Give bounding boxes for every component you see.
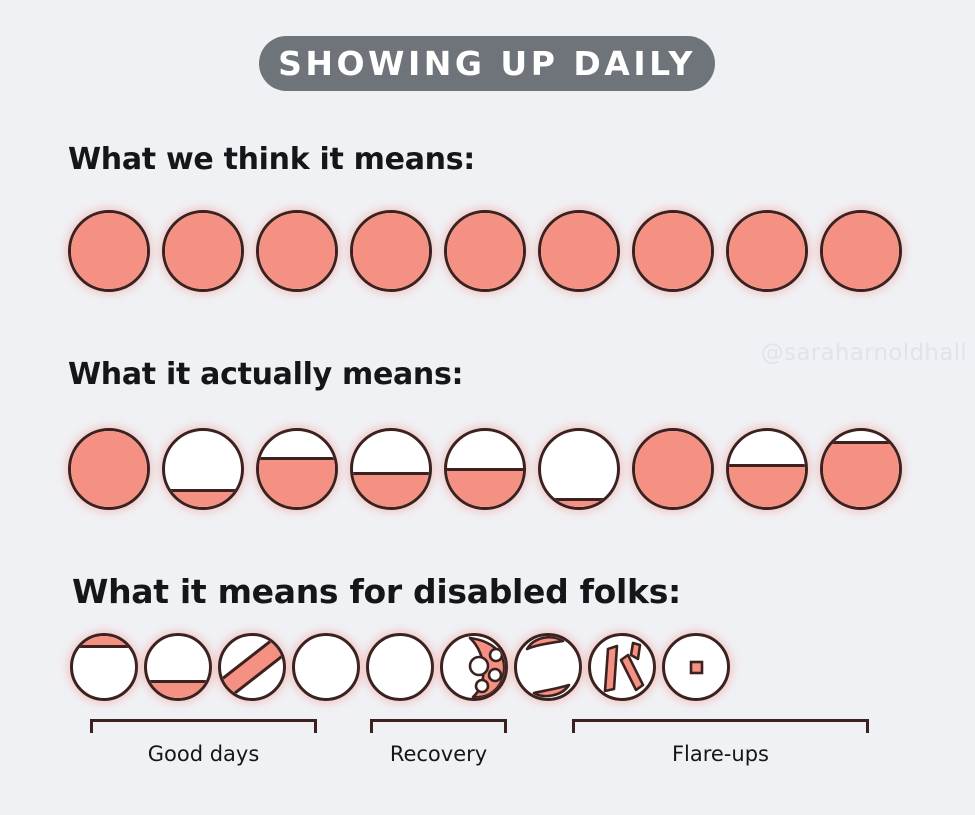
bracket-good-days — [90, 719, 317, 733]
circle-fill — [144, 680, 212, 700]
section-heading-disabled-folks: What it means for disabled folks: — [72, 572, 681, 611]
circle-full-2 — [162, 210, 244, 292]
circle-fill — [538, 211, 620, 291]
title-pill: SHOWING UP DAILY — [259, 36, 715, 91]
circle-level-3 — [256, 428, 338, 510]
circle-full-8 — [726, 210, 808, 292]
circle-level-9 — [820, 428, 902, 510]
circle-full-6 — [538, 210, 620, 292]
circle-fill — [820, 211, 902, 291]
circle-fill — [726, 211, 808, 291]
circle-full-4 — [350, 210, 432, 292]
circle-level-8 — [726, 428, 808, 510]
bracket-label-recovery: Recovery — [370, 742, 507, 766]
circle-tiny-square — [662, 633, 730, 701]
circle-fill — [444, 211, 526, 291]
circle-fill — [256, 211, 338, 291]
circle-fill — [444, 468, 526, 509]
circle-fill — [68, 211, 150, 291]
circle-full-1 — [68, 210, 150, 292]
broken-bars-shape — [588, 633, 656, 701]
circle-fill — [162, 211, 244, 291]
watermark-handle: @saraharnoldhall — [761, 340, 967, 366]
circle-empty-1 — [292, 633, 360, 701]
swiss-cheese-shape — [440, 633, 508, 701]
circle-swiss-cheese — [440, 633, 508, 701]
circle-fill — [820, 441, 902, 509]
circle-diagonal-stripe — [218, 633, 286, 701]
circle-level-6 — [538, 428, 620, 510]
circle-fill — [632, 211, 714, 291]
bracket-label-flare-ups: Flare-ups — [572, 742, 869, 766]
circle-fill — [162, 489, 244, 509]
diagonal-stripe — [218, 633, 286, 701]
circle-fill — [350, 211, 432, 291]
circle-fill — [538, 498, 620, 509]
circle-row-what-it-actually-means — [68, 428, 902, 510]
circle-full-9 — [820, 210, 902, 292]
circle-fill — [68, 429, 150, 509]
infographic-canvas: SHOWING UP DAILY @saraharnoldhall What w… — [0, 0, 975, 815]
section-heading-what-it-actually-means: What it actually means: — [68, 357, 463, 392]
tiny-square-shape — [662, 633, 730, 701]
circle-top-sliver — [70, 633, 138, 701]
circle-fill — [350, 472, 432, 509]
bracket-recovery — [370, 719, 507, 733]
circle-bottom-level — [144, 633, 212, 701]
bracket-flare-ups — [572, 719, 869, 733]
page-title: SHOWING UP DAILY — [278, 47, 696, 80]
circle-empty-2 — [366, 633, 434, 701]
circle-crescents — [514, 633, 582, 701]
circle-level-1 — [68, 428, 150, 510]
circle-fill — [632, 429, 714, 509]
bracket-label-good-days: Good days — [90, 742, 317, 766]
circle-level-4 — [350, 428, 432, 510]
circle-full-3 — [256, 210, 338, 292]
circle-fill — [726, 464, 808, 509]
circle-row-disabled-folks — [70, 633, 730, 701]
circle-level-7 — [632, 428, 714, 510]
circle-fill — [256, 457, 338, 509]
circle-broken-bars — [588, 633, 656, 701]
section-heading-what-we-think: What we think it means: — [68, 142, 475, 177]
circle-row-what-we-think — [68, 210, 902, 292]
circle-full-7 — [632, 210, 714, 292]
crescent-slivers-shape — [514, 633, 582, 701]
circle-fill-top — [70, 634, 138, 648]
circle-level-2 — [162, 428, 244, 510]
circle-full-5 — [444, 210, 526, 292]
circle-level-5 — [444, 428, 526, 510]
